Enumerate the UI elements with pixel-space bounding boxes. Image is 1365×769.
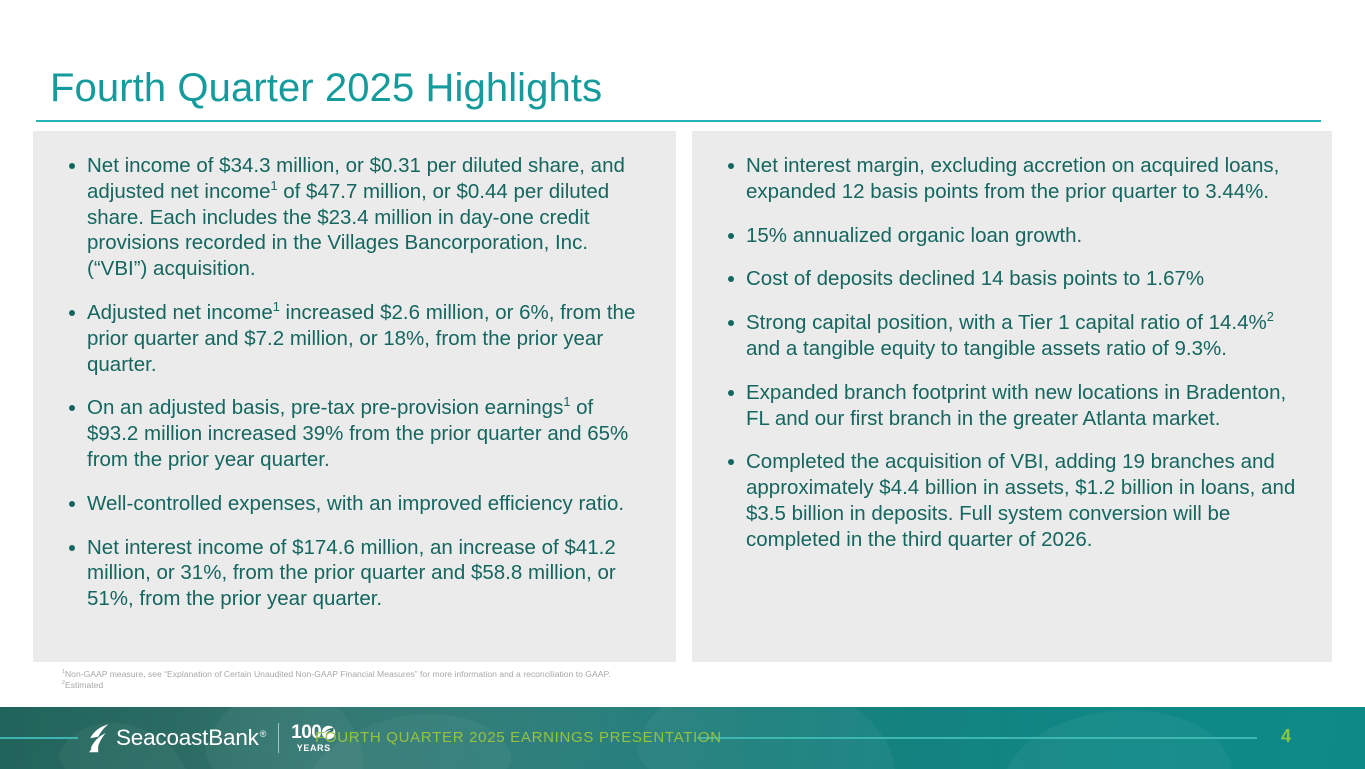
left-bullet-list: Net income of $34.3 million, or $0.31 pe… [59,153,650,612]
footnote-reference: 1 [273,299,280,314]
bullet-text: On an adjusted basis, pre-tax pre-provis… [87,396,563,419]
bullet-item: Well-controlled expenses, with an improv… [59,491,650,517]
deck-title: FOURTH QUARTER 2025 EARNINGS PRESENTATIO… [315,729,722,746]
bullet-text: Strong capital position, with a Tier 1 c… [746,311,1267,334]
bullet-item: Strong capital position, with a Tier 1 c… [718,310,1306,362]
right-highlights-panel: Net interest margin, excluding accretion… [692,131,1332,662]
bullet-text: Well-controlled expenses, with an improv… [87,492,624,515]
title-underline-rule [36,120,1321,122]
registered-trademark-icon: ® [260,729,266,739]
bullet-item: Cost of deposits declined 14 basis point… [718,266,1306,292]
page-title: Fourth Quarter 2025 Highlights [50,64,602,112]
bullet-item: Completed the acquisition of VBI, adding… [718,449,1306,552]
right-bullet-list: Net interest margin, excluding accretion… [718,153,1306,553]
bullet-item: Adjusted net income1 increased $2.6 mill… [59,300,650,377]
logo-divider [278,723,279,753]
logo-wordmark: SeacoastBank® [116,725,266,751]
bullet-item: Net interest income of $174.6 million, a… [59,535,650,612]
bullet-text: Expanded branch footprint with new locat… [746,381,1286,430]
seacoast-bank-logo: SeacoastBank® 100 YEARS [86,721,336,755]
bullet-text: and a tangible equity to tangible assets… [746,337,1227,360]
page-number: 4 [1281,726,1291,747]
bullet-item: Expanded branch footprint with new locat… [718,380,1306,432]
footnote-1: 1Non-GAAP measure, see “Explanation of C… [62,669,610,680]
bullet-text: 15% annualized organic loan growth. [746,224,1082,247]
footer-rule-left [0,737,78,739]
footnote-2-text: Estimated [65,680,103,690]
bullet-item: On an adjusted basis, pre-tax pre-provis… [59,395,650,472]
bullet-item: Net interest margin, excluding accretion… [718,153,1306,205]
footnote-2: 2Estimated [62,680,610,691]
left-highlights-panel: Net income of $34.3 million, or $0.31 pe… [33,131,676,662]
bullet-text: Net interest margin, excluding accretion… [746,154,1279,203]
footnote-1-text: Non-GAAP measure, see “Explanation of Ce… [65,669,611,679]
bullet-item: Net income of $34.3 million, or $0.31 pe… [59,153,650,282]
bullet-text: Net interest income of $174.6 million, a… [87,536,616,611]
footnote-reference: 2 [1267,309,1274,324]
slide: Fourth Quarter 2025 Highlights Net incom… [0,0,1365,769]
footnotes: 1Non-GAAP measure, see “Explanation of C… [62,669,610,691]
bullet-item: 15% annualized organic loan growth. [718,223,1306,249]
bullet-text: Cost of deposits declined 14 basis point… [746,267,1204,290]
footnote-reference: 1 [270,178,277,193]
bullet-text: Completed the acquisition of VBI, adding… [746,450,1295,550]
footer-rule-middle [697,737,1257,739]
sail-mark-icon [86,723,116,753]
bullet-text: Adjusted net income [87,301,273,324]
content-panels: Net income of $34.3 million, or $0.31 pe… [33,131,1332,662]
